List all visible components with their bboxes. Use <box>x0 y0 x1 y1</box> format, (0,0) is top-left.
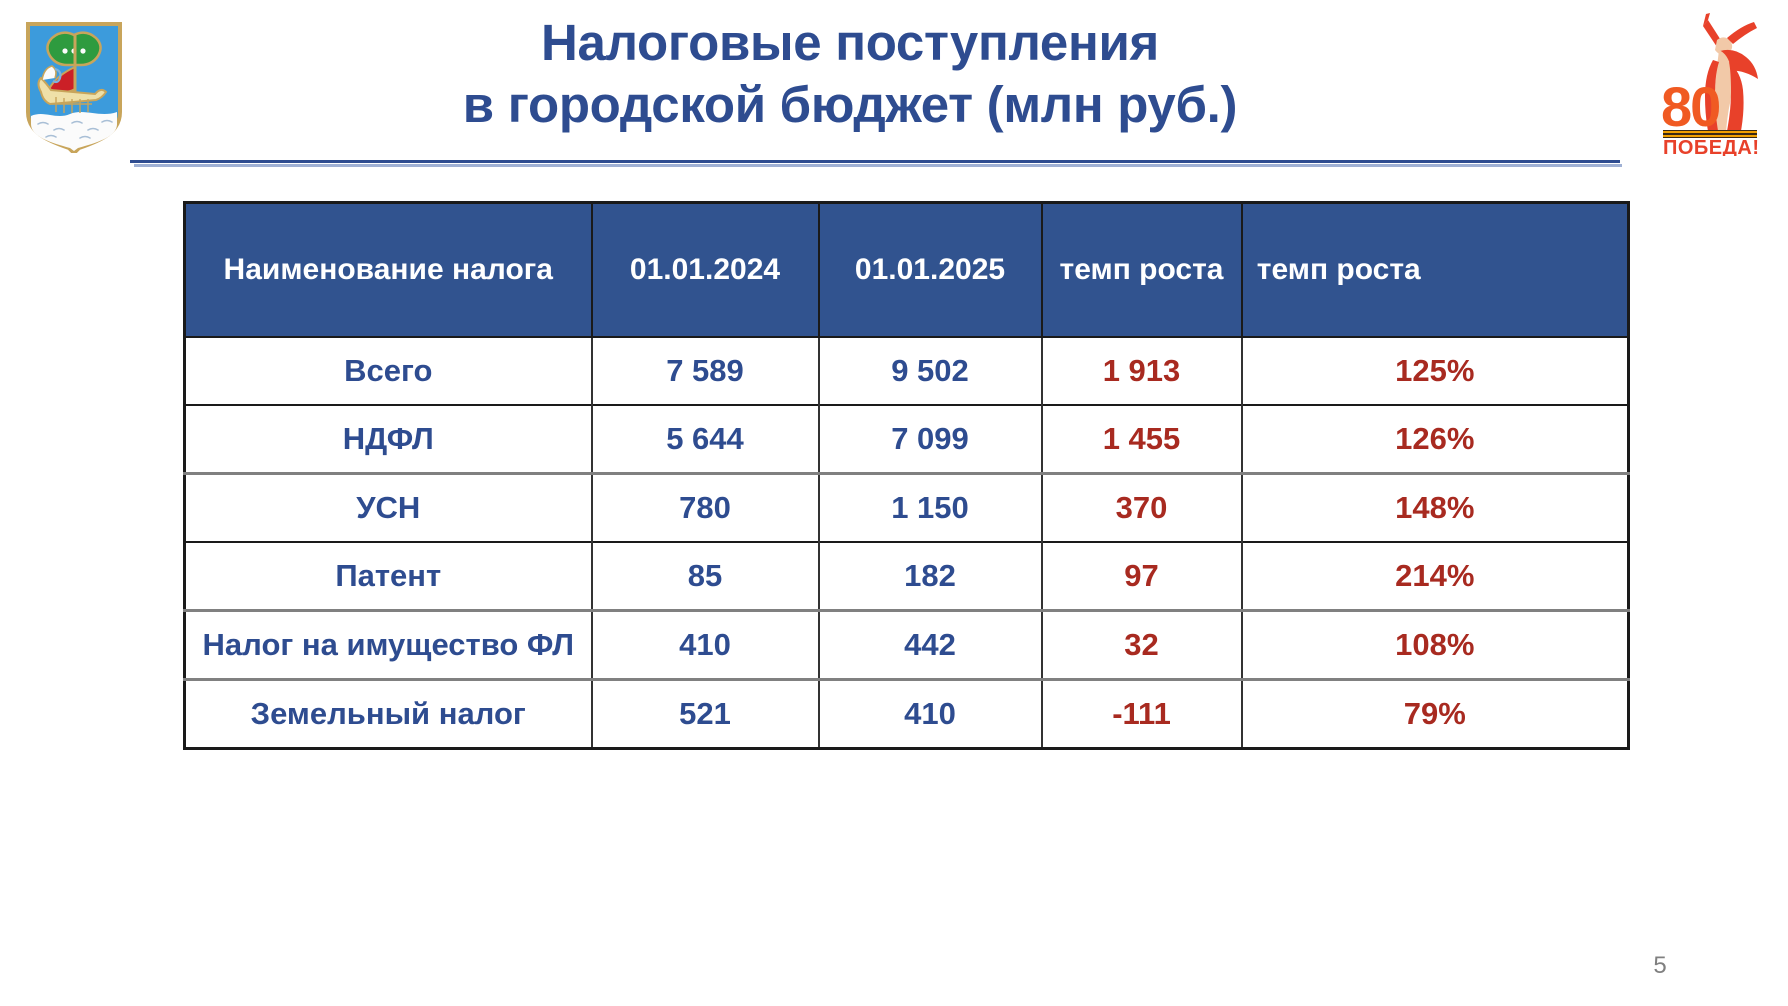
victory-number: 80 <box>1661 75 1719 138</box>
cell-tax-name: УСН <box>185 474 592 543</box>
cell-growth-abs: -111 <box>1042 680 1242 749</box>
table-body: Всего 7 589 9 502 1 913 125% НДФЛ 5 644 … <box>185 337 1629 749</box>
column-header-growth-pct: темп роста <box>1242 203 1629 338</box>
column-header-2024: 01.01.2024 <box>592 203 819 338</box>
cell-2025: 182 <box>819 542 1042 611</box>
column-header-growth-pct-label: темп роста <box>1257 253 1421 287</box>
cell-2024: 410 <box>592 611 819 680</box>
slide-canvas: Налоговые поступления в городской бюджет… <box>0 0 1788 1006</box>
cell-growth-abs: 1 913 <box>1042 337 1242 405</box>
cell-2025: 410 <box>819 680 1042 749</box>
cell-growth-pct: 148% <box>1242 474 1629 543</box>
column-header-growth-abs: темп роста <box>1042 203 1242 338</box>
page-number: 5 <box>1630 952 1690 980</box>
cell-2024: 7 589 <box>592 337 819 405</box>
cell-tax-name: Налог на имущество ФЛ <box>185 611 592 680</box>
cell-growth-pct: 126% <box>1242 405 1629 474</box>
cell-growth-pct: 108% <box>1242 611 1629 680</box>
cell-growth-abs: 32 <box>1042 611 1242 680</box>
cell-growth-abs: 1 455 <box>1042 405 1242 474</box>
table-row: Налог на имущество ФЛ 410 442 32 108% <box>185 611 1629 680</box>
cell-2025: 9 502 <box>819 337 1042 405</box>
table-header: Наименование налога 01.01.2024 01.01.202… <box>185 203 1629 338</box>
cell-growth-pct: 214% <box>1242 542 1629 611</box>
title-divider <box>130 160 1620 163</box>
cell-growth-pct: 125% <box>1242 337 1629 405</box>
title-divider-shadow <box>134 164 1622 167</box>
victory-80-anniversary-logo: 80 ПОБЕДА! <box>1645 4 1775 156</box>
cell-2024: 780 <box>592 474 819 543</box>
table-row: НДФЛ 5 644 7 099 1 455 126% <box>185 405 1629 474</box>
page-title: Налоговые поступления в городской бюджет… <box>300 12 1400 136</box>
cell-growth-abs: 370 <box>1042 474 1242 543</box>
table-row: Земельный налог 521 410 -111 79% <box>185 680 1629 749</box>
cell-tax-name: Патент <box>185 542 592 611</box>
cell-2025: 1 150 <box>819 474 1042 543</box>
table-row: Всего 7 589 9 502 1 913 125% <box>185 337 1629 405</box>
cell-tax-name: Всего <box>185 337 592 405</box>
svg-text:80: 80 <box>1661 75 1719 138</box>
cell-growth-pct: 79% <box>1242 680 1629 749</box>
cell-2025: 7 099 <box>819 405 1042 474</box>
cell-2025: 442 <box>819 611 1042 680</box>
cell-growth-abs: 97 <box>1042 542 1242 611</box>
city-coat-of-arms-icon <box>22 20 126 153</box>
cell-2024: 521 <box>592 680 819 749</box>
table-row: Патент 85 182 97 214% <box>185 542 1629 611</box>
tax-revenue-table: Наименование налога 01.01.2024 01.01.202… <box>183 201 1630 750</box>
cell-tax-name: НДФЛ <box>185 405 592 474</box>
cell-2024: 85 <box>592 542 819 611</box>
table-header-row: Наименование налога 01.01.2024 01.01.202… <box>185 203 1629 338</box>
page-title-line-1: Налоговые поступления <box>300 12 1400 74</box>
cell-tax-name: Земельный налог <box>185 680 592 749</box>
table-row: УСН 780 1 150 370 148% <box>185 474 1629 543</box>
column-header-tax-name: Наименование налога <box>185 203 592 338</box>
column-header-2025: 01.01.2025 <box>819 203 1042 338</box>
page-title-line-2: в городской бюджет (млн руб.) <box>300 74 1400 136</box>
cell-2024: 5 644 <box>592 405 819 474</box>
victory-word-label: ПОБЕДА! <box>1663 137 1760 156</box>
